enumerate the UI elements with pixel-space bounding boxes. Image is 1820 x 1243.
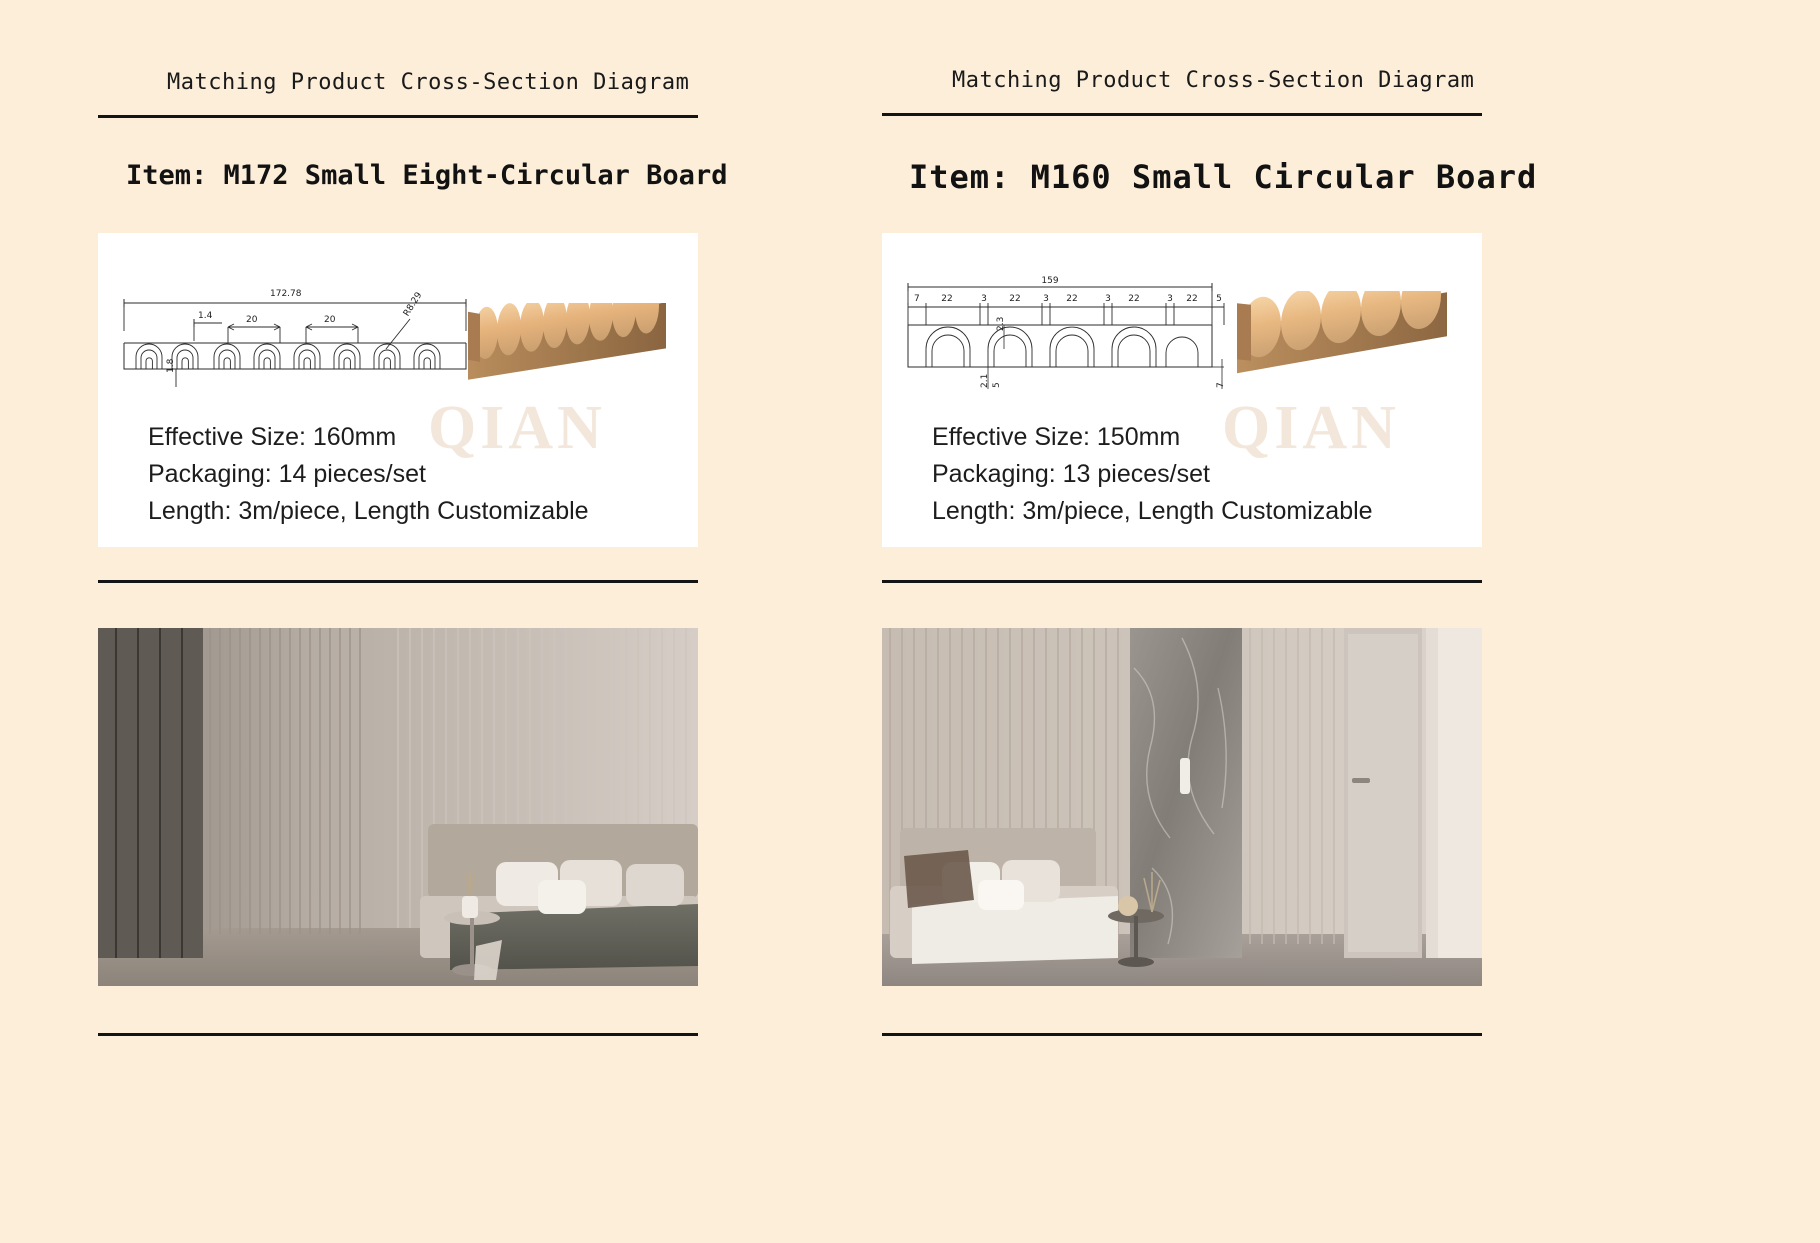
svg-text:22: 22 [1009, 294, 1020, 304]
spec-effective-size: Effective Size: 150mm [932, 423, 1180, 452]
divider-top [98, 115, 698, 118]
dim-overall-width: 172.78 [270, 289, 302, 299]
divider-top [882, 113, 1482, 116]
spec-length: Length: 3m/piece, Length Customizable [148, 497, 589, 526]
dim-v2: 2.1 [980, 374, 990, 388]
product-3d-render [1227, 291, 1477, 421]
product-panel-m172: Matching Product Cross-Section Diagram I… [0, 0, 910, 1243]
svg-text:159: 159 [1041, 276, 1058, 286]
dim-thickness: 1.8 [166, 359, 176, 373]
spec-effective-size: Effective Size: 160mm [148, 423, 396, 452]
spec-card: QIAN [882, 233, 1482, 547]
dim-3: 20 [324, 315, 335, 325]
svg-text:3: 3 [1105, 294, 1111, 304]
svg-text:7: 7 [914, 294, 920, 304]
item-title: Item: M160 Small Circular Board [909, 158, 1537, 196]
svg-text:3: 3 [1167, 294, 1173, 304]
dim-2: 20 [246, 315, 257, 325]
dim-v4: 7 [1216, 382, 1226, 388]
product-spec-sheet: Matching Product Cross-Section Diagram I… [0, 0, 1820, 1243]
divider-middle [98, 580, 698, 583]
item-title: Item: M172 Small Eight-Circular Board [126, 160, 727, 191]
panel-header-title: Matching Product Cross-Section Diagram [167, 70, 689, 95]
panel-header-title: Matching Product Cross-Section Diagram [952, 68, 1474, 93]
spec-packaging: Packaging: 14 pieces/set [148, 460, 426, 489]
svg-text:22: 22 [1066, 294, 1077, 304]
svg-text:3: 3 [1043, 294, 1049, 304]
spec-card: QIAN [98, 233, 698, 547]
cross-section-drawing: 159 7 22 3 22 3 22 3 22 3 22 5 [892, 263, 1237, 398]
spec-packaging: Packaging: 13 pieces/set [932, 460, 1210, 489]
dim-1: 1.4 [198, 311, 212, 321]
svg-text:22: 22 [1128, 294, 1139, 304]
svg-text:5: 5 [1216, 294, 1222, 304]
dim-v3: 5 [992, 382, 1002, 388]
interior-photo [882, 628, 1482, 986]
svg-text:3: 3 [981, 294, 987, 304]
cross-section-drawing: 172.78 1.4 20 20 R8.29 1.8 [110, 283, 480, 393]
divider-bottom [882, 1033, 1482, 1036]
svg-text:22: 22 [941, 294, 952, 304]
product-3d-render [460, 303, 690, 418]
divider-middle [882, 580, 1482, 583]
spec-length: Length: 3m/piece, Length Customizable [932, 497, 1373, 526]
dim-v1: 2.3 [996, 317, 1006, 331]
divider-bottom [98, 1033, 698, 1036]
interior-photo [98, 628, 698, 986]
svg-text:22: 22 [1186, 294, 1197, 304]
product-panel-m160: Matching Product Cross-Section Diagram I… [910, 0, 1820, 1243]
